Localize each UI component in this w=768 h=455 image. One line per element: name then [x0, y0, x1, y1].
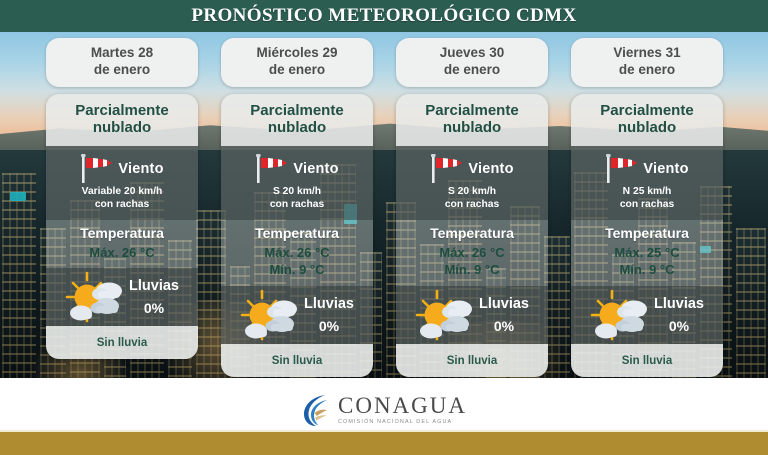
windsock-icon — [80, 153, 114, 185]
logo-name: CONAGUA — [338, 394, 467, 417]
temperature-band: Temperatura Máx. 25 °C Mín. 9 °C — [571, 220, 723, 286]
rain-label: Lluvias — [304, 296, 354, 312]
wind-speed: N 25 km/h — [575, 186, 719, 199]
windsock-icon — [430, 153, 464, 185]
day-label-pill: Viernes 31 de enero — [571, 38, 723, 87]
forecast-card: Parcialmente nublado — [221, 94, 373, 377]
wind-label: Viento — [293, 161, 338, 177]
gold-footer-bar — [0, 432, 768, 455]
day-name: Jueves 30 — [398, 45, 546, 62]
wind-label: Viento — [118, 161, 163, 177]
day-month: de enero — [223, 62, 371, 79]
forecast-card: Parcialmente nublado — [46, 94, 198, 360]
condition-band: Parcialmente nublado — [221, 94, 373, 146]
condition-band: Parcialmente nublado — [571, 94, 723, 146]
wind-speed: S 20 km/h — [225, 186, 369, 199]
rain-label: Lluvias — [654, 296, 704, 312]
poster-header: PRONÓSTICO METEOROLÓGICO CDMX — [0, 0, 768, 32]
temperature-label: Temperatura — [50, 225, 194, 241]
condition-band: Parcialmente nublado — [46, 94, 198, 146]
temperature-min: Mín. 9 °C — [225, 261, 369, 279]
temperature-min: Mín. 9 °C — [400, 261, 544, 279]
condition-line1: Parcialmente — [400, 102, 544, 120]
wind-band: Viento Variable 20 km/h con rachas — [46, 146, 198, 220]
forecast-card: Parcialmente nublado — [571, 94, 723, 377]
temperature-band: Temperatura Máx. 26 °C — [46, 220, 198, 269]
rain-summary-band: Sin lluvia — [571, 344, 723, 377]
forecast-card: Parcialmente nublado — [396, 94, 548, 377]
sun-behind-cloud-icon — [240, 289, 302, 341]
condition-band: Parcialmente nublado — [396, 94, 548, 146]
rain-summary-band: Sin lluvia — [46, 326, 198, 359]
rain-chance: 0% — [479, 318, 529, 334]
temperature-band: Temperatura Máx. 26 °C Mín. 9 °C — [396, 220, 548, 286]
forecast-column-miercoles-29: Miércoles 29 de enero Parcialmente nubla… — [213, 32, 381, 377]
temperature-label: Temperatura — [225, 225, 369, 241]
wind-label: Viento — [468, 161, 513, 177]
day-name: Viernes 31 — [573, 45, 721, 62]
temperature-label: Temperatura — [575, 225, 719, 241]
temperature-max: Máx. 26 °C — [400, 244, 544, 262]
condition-line1: Parcialmente — [225, 102, 369, 120]
wind-gusts: con rachas — [50, 199, 194, 212]
rain-band: Lluvias 0% — [221, 286, 373, 344]
temperature-label: Temperatura — [400, 225, 544, 241]
forecast-column-martes-28: Martes 28 de enero Parcialmente nublado — [38, 32, 206, 359]
logo-subtitle: COMISIÓN NACIONAL DEL AGUA — [338, 420, 467, 425]
day-month: de enero — [573, 62, 721, 79]
day-label-pill: Martes 28 de enero — [46, 38, 198, 87]
forecast-column-jueves-30: Jueves 30 de enero Parcialmente nublado — [388, 32, 556, 377]
wind-gusts: con rachas — [575, 199, 719, 212]
temperature-max: Máx. 26 °C — [50, 244, 194, 262]
rain-band: Lluvias 0% — [46, 268, 198, 326]
temperature-max: Máx. 25 °C — [575, 244, 719, 262]
temperature-max: Máx. 26 °C — [225, 244, 369, 262]
rain-summary-band: Sin lluvia — [396, 344, 548, 377]
wind-gusts: con rachas — [400, 199, 544, 212]
condition-line2: nublado — [575, 119, 719, 137]
temperature-band: Temperatura Máx. 26 °C Mín. 9 °C — [221, 220, 373, 286]
day-label-pill: Miércoles 29 de enero — [221, 38, 373, 87]
condition-line1: Parcialmente — [575, 102, 719, 120]
temperature-min: Mín. 9 °C — [575, 261, 719, 279]
conagua-logo: CONAGUA COMISIÓN NACIONAL DEL AGUA — [0, 388, 768, 432]
condition-line2: nublado — [400, 119, 544, 137]
rain-summary: Sin lluvia — [97, 337, 148, 349]
rain-summary-band: Sin lluvia — [221, 344, 373, 377]
forecast-column-viernes-31: Viernes 31 de enero Parcialmente nublado — [563, 32, 731, 377]
rain-chance: 0% — [129, 300, 179, 316]
rain-band: Lluvias 0% — [396, 286, 548, 344]
wind-speed: Variable 20 km/h — [50, 186, 194, 199]
wind-label: Viento — [643, 161, 688, 177]
wind-band: Viento N 25 km/h con rachas — [571, 146, 723, 220]
weather-forecast-poster: PRONÓSTICO METEOROLÓGICO CDMX Martes 28 … — [0, 0, 768, 455]
rain-summary: Sin lluvia — [447, 355, 498, 367]
water-swoosh-icon — [301, 393, 331, 427]
rain-label: Lluvias — [129, 278, 179, 294]
sun-behind-cloud-icon — [590, 289, 652, 341]
rain-chance: 0% — [304, 318, 354, 334]
day-month: de enero — [398, 62, 546, 79]
windsock-icon — [255, 153, 289, 185]
day-name: Miércoles 29 — [223, 45, 371, 62]
wind-band: Viento S 20 km/h con rachas — [396, 146, 548, 220]
wind-speed: S 20 km/h — [400, 186, 544, 199]
rain-label: Lluvias — [479, 296, 529, 312]
day-month: de enero — [48, 62, 196, 79]
condition-line2: nublado — [225, 119, 369, 137]
forecast-columns: Martes 28 de enero Parcialmente nublado — [0, 32, 768, 378]
rain-summary: Sin lluvia — [622, 355, 673, 367]
condition-line1: Parcialmente — [50, 102, 194, 120]
rain-band: Lluvias 0% — [571, 286, 723, 344]
page-title: PRONÓSTICO METEOROLÓGICO CDMX — [191, 5, 576, 27]
wind-gusts: con rachas — [225, 199, 369, 212]
sun-behind-cloud-icon — [415, 289, 477, 341]
sun-behind-cloud-icon — [65, 271, 127, 323]
wind-band: Viento S 20 km/h con rachas — [221, 146, 373, 220]
rain-summary: Sin lluvia — [272, 355, 323, 367]
rain-chance: 0% — [654, 318, 704, 334]
day-label-pill: Jueves 30 de enero — [396, 38, 548, 87]
condition-line2: nublado — [50, 119, 194, 137]
day-name: Martes 28 — [48, 45, 196, 62]
windsock-icon — [605, 153, 639, 185]
